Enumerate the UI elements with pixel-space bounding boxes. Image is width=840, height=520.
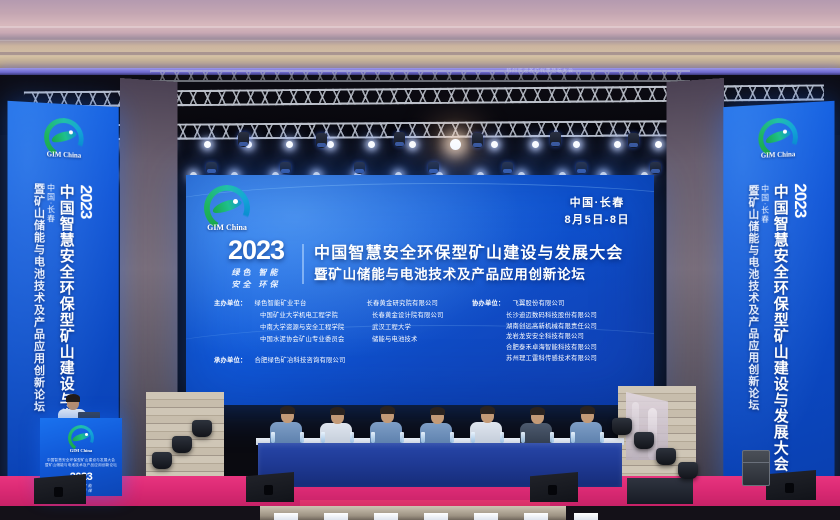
gim-china-logo: GIM China bbox=[758, 117, 798, 159]
undertaker-label: 承办单位： bbox=[214, 357, 246, 364]
step-moving-light bbox=[634, 432, 654, 449]
name-placard bbox=[474, 513, 498, 520]
title-text-group: 中国智慧安全环保型矿山建设与发展大会 暨矿山储能与电池技术及产品应用创新论坛 bbox=[314, 244, 624, 284]
main-led-screen: GIM China 中国·长春 8月5日-8日 2023 绿色 智能 安全 环保… bbox=[186, 175, 654, 405]
water-bottle bbox=[400, 432, 404, 443]
floor-monitor bbox=[766, 470, 816, 500]
floor-monitor bbox=[34, 474, 86, 504]
title-divider bbox=[302, 244, 304, 284]
gim-china-logo: GIM China bbox=[204, 185, 250, 231]
moving-head-light bbox=[394, 132, 405, 147]
step-moving-light bbox=[678, 462, 698, 479]
moving-head-light bbox=[206, 162, 217, 174]
water-bottle bbox=[421, 432, 425, 443]
speaker-head bbox=[67, 396, 79, 410]
stage-front-gap-right bbox=[566, 506, 840, 520]
floor-monitor bbox=[530, 472, 578, 502]
person-head bbox=[481, 408, 494, 423]
moving-head-light bbox=[316, 133, 327, 148]
co-host-row-0: 协办单位： 飞翼股份有限公司 bbox=[472, 300, 597, 307]
ceiling-molding-line bbox=[0, 40, 840, 41]
co-host-0: 飞翼股份有限公司 bbox=[512, 300, 564, 307]
host-a-3: 中国水泥协会矿山专业委员会 bbox=[260, 336, 364, 343]
stage-lamp bbox=[655, 141, 662, 148]
water-bottle bbox=[600, 432, 604, 443]
stage-lamp bbox=[286, 141, 293, 148]
water-bottle bbox=[471, 432, 475, 443]
co-host-1: 长沙迪迈数码科技股份有限公司 bbox=[506, 312, 597, 319]
tagline-line-2: 安全 环保 bbox=[220, 279, 292, 291]
banner-city: 中国·长春 bbox=[760, 184, 771, 483]
stage-lamp bbox=[450, 139, 461, 150]
water-bottle bbox=[300, 432, 304, 443]
gim-china-logo: GIM China bbox=[68, 425, 94, 451]
event-dates: 8月5日-8日 bbox=[564, 212, 630, 229]
co-host-column: 协办单位： 飞翼股份有限公司 长沙迪迈数码科技股份有限公司 湖南创远高新机械有限… bbox=[472, 300, 597, 364]
water-bottle bbox=[271, 432, 275, 443]
event-tagline: 绿色 智能 安全 环保 bbox=[220, 267, 292, 290]
undertaker-value: 合肥绿色矿冶科技咨询有限公司 bbox=[254, 357, 345, 364]
tagline-line-1: 绿色 智能 bbox=[220, 267, 292, 279]
organizer-block: 主办单位： 绿色智能矿业平台 长春黄金研究院有限公司 中国矿业大学机电工程学院 … bbox=[214, 300, 634, 364]
stage-lamp bbox=[204, 141, 211, 148]
name-placard bbox=[324, 513, 348, 520]
event-title-main: 中国智慧安全环保型矿山建设与发展大会 bbox=[314, 244, 624, 264]
moving-head-light bbox=[650, 162, 661, 174]
co-host-3: 龙岩龙安安全科技有限公司 bbox=[506, 333, 597, 340]
step-moving-light bbox=[612, 418, 632, 435]
moving-head-light bbox=[280, 162, 291, 174]
banner-text-columns: 2023 中国智慧安全环保型矿山建设与发展大会 中国·长春 暨矿山储能与电池技术… bbox=[723, 182, 834, 487]
water-bottle bbox=[571, 432, 575, 443]
host-b-1: 长春黄金设计院有限公司 bbox=[372, 312, 443, 319]
moving-head-light bbox=[550, 132, 561, 147]
moving-head-light bbox=[628, 133, 639, 148]
water-bottle bbox=[500, 432, 504, 443]
moving-head-light bbox=[354, 162, 365, 174]
year-block: 2023 绿色 智能 安全 环保 bbox=[220, 237, 292, 290]
conference-stage-photo: 热烈欢迎各位代表莅临大会 GIM China 2023 中国智慧安全环保型矿山建… bbox=[0, 0, 840, 520]
podium-line-2: 暨矿山储能与电池技术及产品应用创新论坛 bbox=[40, 463, 122, 468]
step-moving-light bbox=[192, 420, 212, 437]
vertical-banner-right: GIM China 2023 中国智慧安全环保型矿山建设与发展大会 中国·长春 … bbox=[723, 101, 834, 497]
host-column: 主办单位： 绿色智能矿业平台 长春黄金研究院有限公司 中国矿业大学机电工程学院 … bbox=[214, 300, 454, 364]
stage-lamp bbox=[532, 141, 539, 148]
water-bottle bbox=[521, 432, 525, 443]
name-placard bbox=[374, 513, 398, 520]
person-head bbox=[531, 409, 544, 424]
host-b-2: 武汉工程大学 bbox=[372, 324, 411, 331]
co-host-list: 长沙迪迈数码科技股份有限公司 湖南创远高新机械有限责任公司 龙岩龙安安全科技有限… bbox=[472, 312, 597, 362]
water-bottle bbox=[321, 432, 325, 443]
screen-title-block: 2023 绿色 智能 安全 环保 中国智慧安全环保型矿山建设与发展大会 暨矿山储… bbox=[220, 237, 622, 290]
moving-head-light bbox=[238, 132, 249, 147]
water-bottle bbox=[371, 432, 375, 443]
moving-head-light bbox=[576, 162, 587, 174]
hall-ceiling bbox=[0, 0, 840, 74]
water-bottle bbox=[450, 432, 454, 443]
event-year: 2023 bbox=[220, 237, 292, 264]
banner-year: 2023 bbox=[790, 183, 810, 486]
step-moving-light bbox=[152, 452, 172, 469]
host-row-0: 主办单位： 绿色智能矿业平台 长春黄金研究院有限公司 bbox=[214, 300, 454, 307]
gim-china-logo: GIM China bbox=[44, 117, 84, 159]
host-label: 主办单位： bbox=[214, 300, 246, 307]
stage-lamp bbox=[327, 141, 334, 148]
name-placard bbox=[524, 513, 548, 520]
moving-head-light bbox=[428, 162, 439, 174]
name-placard bbox=[574, 513, 598, 520]
undertaker-row: 承办单位： 合肥绿色矿冶科技咨询有限公司 bbox=[214, 357, 454, 364]
person-head bbox=[431, 409, 444, 424]
stage-lamp bbox=[368, 141, 375, 148]
stage-lamp bbox=[491, 141, 498, 148]
truss-upper-back bbox=[150, 70, 690, 82]
name-placard bbox=[274, 513, 298, 520]
co-host-5: 苏州理工雷科传感技术有限公司 bbox=[506, 355, 597, 362]
step-moving-light bbox=[656, 448, 676, 465]
host-a-2: 中南大学资源与安全工程学院 bbox=[260, 324, 364, 331]
water-bottle bbox=[550, 432, 554, 443]
host-a-0: 绿色智能矿业平台 bbox=[254, 300, 358, 307]
event-location-date: 中国·长春 8月5日-8日 bbox=[564, 195, 630, 229]
stage-front-gap-left bbox=[0, 506, 260, 520]
ceiling-molding-line bbox=[0, 26, 840, 28]
host-a-1: 中国矿业大学机电工程学院 bbox=[260, 312, 364, 319]
host-b-3: 储能与电池技术 bbox=[372, 336, 417, 343]
road-case bbox=[742, 450, 770, 486]
ceiling-cornice bbox=[0, 56, 840, 68]
banner-title-sub: 暨矿山储能与电池技术及产品应用创新论坛 bbox=[747, 185, 758, 483]
host-row-3: 中国水泥协会矿山专业委员会 储能与电池技术 bbox=[214, 336, 454, 343]
person-head bbox=[381, 408, 394, 423]
host-row-2: 中南大学资源与安全工程学院 武汉工程大学 bbox=[214, 324, 454, 331]
host-b-0: 长春黄金研究院有限公司 bbox=[366, 300, 437, 307]
step-moving-light bbox=[172, 436, 192, 453]
stage-lamp bbox=[409, 141, 416, 148]
side-equipment-table bbox=[627, 478, 693, 504]
water-bottle bbox=[350, 432, 354, 443]
name-placard bbox=[424, 513, 448, 520]
person-head bbox=[581, 408, 594, 423]
floor-monitor bbox=[246, 472, 294, 502]
banner-title-main: 中国智慧安全环保型矿山建设与发展大会 bbox=[773, 184, 788, 485]
person-head bbox=[281, 408, 294, 423]
host-row-1: 中国矿业大学机电工程学院 长春黄金设计院有限公司 bbox=[214, 312, 454, 319]
moving-head-light bbox=[502, 162, 513, 174]
event-title-sub: 暨矿山储能与电池技术及产品应用创新论坛 bbox=[314, 266, 624, 284]
co-host-label: 协办单位： bbox=[472, 300, 504, 307]
co-host-4: 合肥泰禾卓海智能科技有限公司 bbox=[506, 344, 597, 351]
stage-lamp bbox=[573, 141, 580, 148]
person-head bbox=[331, 409, 344, 424]
ceiling-shadow-line bbox=[0, 52, 840, 55]
moving-head-light bbox=[472, 133, 483, 148]
co-host-2: 湖南创远高新机械有限责任公司 bbox=[506, 323, 597, 330]
stage-lamp bbox=[614, 141, 621, 148]
event-location: 中国·长春 bbox=[564, 195, 630, 212]
